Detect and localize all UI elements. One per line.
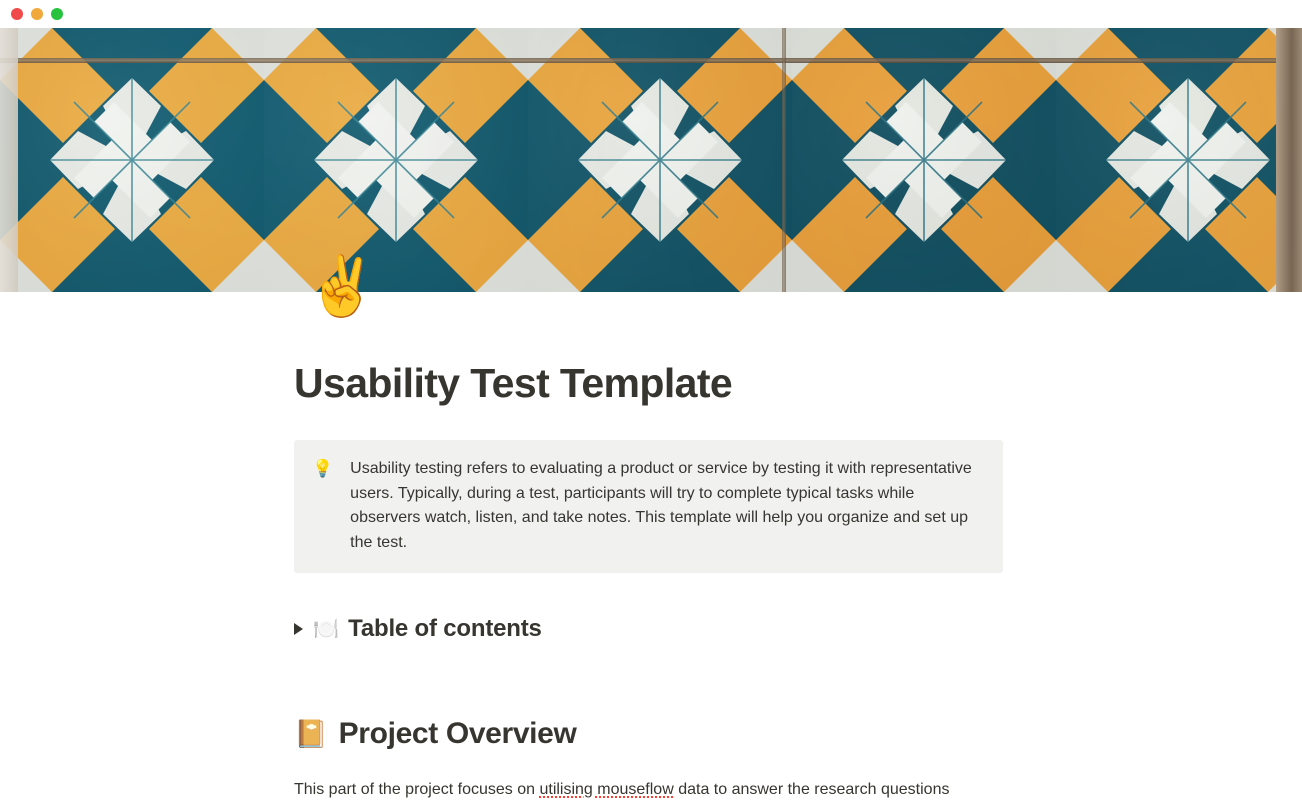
tile-edge-right: [1276, 28, 1302, 292]
spellcheck-misspelled-text[interactable]: utilising mouseflow: [539, 781, 673, 798]
callout-block[interactable]: 💡 Usability testing refers to evaluating…: [294, 440, 1003, 573]
window-titlebar: [0, 0, 1302, 28]
plate-with-cutlery-emoji: 🍽️: [313, 619, 339, 640]
section-title: Project Overview: [339, 717, 577, 751]
victory-hand-emoji[interactable]: ✌️: [306, 258, 378, 316]
toggle-table-of-contents[interactable]: 🍽️ Table of contents: [294, 615, 1003, 643]
minimize-window-button[interactable]: [31, 8, 43, 20]
section-heading-project-overview[interactable]: 📔 Project Overview: [294, 717, 1003, 751]
chevron-right-icon[interactable]: [294, 623, 303, 635]
zoom-window-button[interactable]: [51, 8, 63, 20]
tile-grout-seam-vertical: [782, 28, 786, 292]
page-cover-image[interactable]: [0, 28, 1302, 292]
tile-grout-seam-horizontal: [0, 58, 1302, 63]
toggle-label: Table of contents: [348, 615, 542, 643]
close-window-button[interactable]: [11, 8, 23, 20]
paragraph-tail: data to answer the research questions: [674, 781, 950, 798]
page-title[interactable]: Usability Test Template: [294, 360, 1003, 407]
azulejo-tile-pattern: [0, 28, 1302, 292]
light-bulb-emoji: 💡: [312, 457, 333, 481]
callout-text: Usability testing refers to evaluating a…: [350, 457, 985, 555]
paragraph-lead: This part of the project focuses on: [294, 781, 539, 798]
window-traffic-lights: [0, 8, 63, 20]
tile-edge-left: [0, 28, 18, 292]
page-content: Usability Test Template 💡 Usability test…: [294, 292, 1003, 802]
notebook-emoji: 📔: [294, 721, 328, 748]
